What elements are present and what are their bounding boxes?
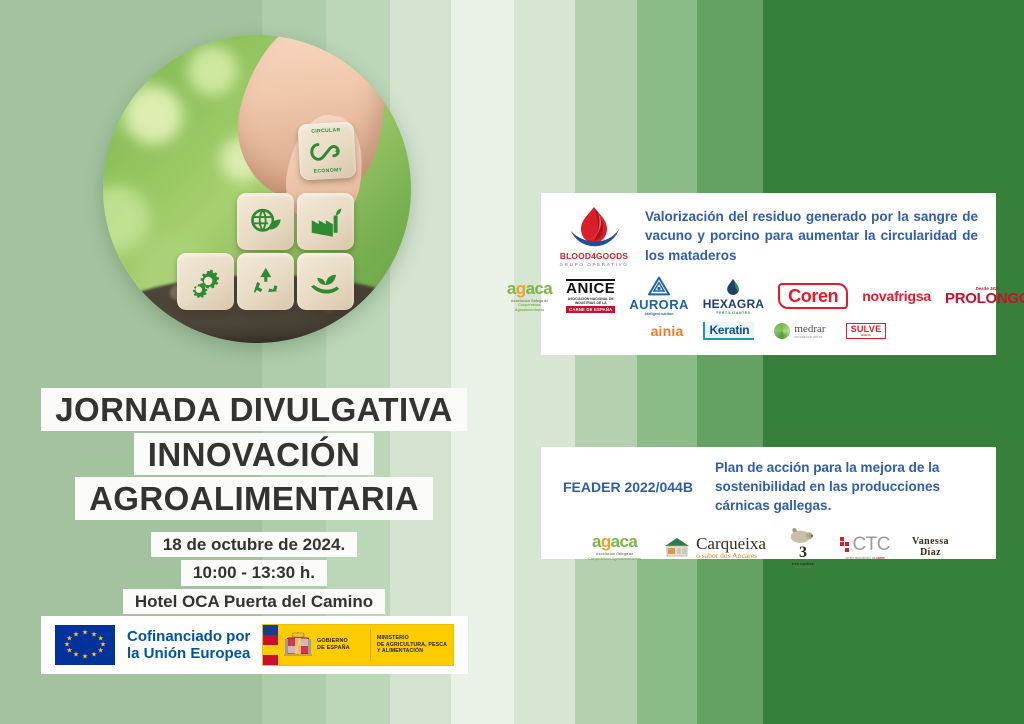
logo-anice: ANICE ASOCIACIÓN NACIONAL DE INDUSTRIAS … [566,279,615,313]
poster-canvas: CIRCULAR ECONOMY [0,0,1024,724]
logo-aurora-tagline: intelligent nutrition [645,312,674,316]
spain-government-emblem: GOBIERNO DE ESPAÑA MINISTERIO DE AGRICUL… [262,624,454,666]
feader-code: FEADER 2022/044B [563,479,715,495]
panel1-partner-row-2: ainia Keratin medrar innovation office S… [541,322,996,340]
ministerio-text: MINISTERIO DE AGRICULTURA, PESCA Y ALIME… [377,635,447,655]
spain-flag-bands [263,625,278,665]
blood4goods-subtitle: GRUPO OPERATIVO [557,262,631,267]
page-title-line-1: JORNADA DIVULGATIVA [41,388,467,431]
logo-tres-numeral: 3 [799,545,807,561]
logo-novafrigsa-wordmark: novafrigsa [862,288,931,304]
logo-vanessa-line-1: Vanessa [912,536,949,548]
logo-keratin: Keratin [703,322,754,340]
eu-star-icon: ★ [82,654,88,661]
ctc-dots-icon [840,537,850,552]
eu-star-icon: ★ [91,652,97,659]
logo-anice-tagline: ASOCIACIÓN NACIONAL DE INDUSTRIAS DE LA [566,297,615,305]
die-earth-leaf [237,193,294,250]
eu-star-icon: ★ [73,631,79,638]
logo-medrar-text: medrar innovation office [794,324,825,339]
event-date: 18 de octubre de 2024. [151,532,357,557]
logo-agaca-tagline: Asociación Galega de Cooperativas Agroal… [507,299,552,312]
logo-hexagra: HEXAGRA FERTILIZANTES [703,278,764,315]
logo-carqueixa-tagline: o sabor dos Ancares [696,552,766,560]
logo-ainia-wordmark: ainia [651,323,684,339]
die-gears [177,253,234,310]
ministerio-block: MINISTERIO DE AGRICULTURA, PESCA Y ALIME… [371,625,453,665]
logo-vanessa-diaz: Vanessa Díaz [912,536,949,559]
eu-flag-icon: ★★★★★★★★★★★★ [55,625,115,665]
background-stripe-5 [514,0,575,724]
logo-agaca-feader-wordmark: agaca [592,533,637,550]
blood4goods-name: BLOOD4GOODS [557,251,631,261]
logo-prolongo-wordmark: PROLONGO [945,291,1024,306]
logo-hexagra-wordmark: HEXAGRA [703,298,764,310]
panel1-header: BLOOD4GOODS GRUPO OPERATIVO Valorización… [541,193,996,267]
factory-plant-icon [307,203,345,241]
panel2-header: FEADER 2022/044B Plan de acción para la … [541,447,996,515]
logo-sulve-wordmark: SULVE [851,325,882,334]
die-factory [297,193,354,250]
logo-coren: Coren [778,283,848,309]
hero-photo: CIRCULAR ECONOMY [103,35,411,343]
eu-star-icon: ★ [82,630,88,637]
logo-ctc-tagline: centro tecnolóxico da carne [845,556,885,560]
logo-tres-tagline: xamón e máis [795,566,811,569]
logo-anice-wordmark: ANICE [566,281,615,296]
logo-sulve: SULVE Biotech [846,323,887,339]
eu-funding-line-1: Cofinanciado por [127,628,250,645]
die-hand-sprout [297,253,354,310]
event-venue: Hotel OCA Puerta del Camino [123,589,385,614]
eu-funding-line-2: la Unión Europea [127,645,250,662]
aurora-triangle-icon [646,276,672,296]
logo-aurora-wordmark: AURORA [629,298,688,311]
logo-novafrigsa: novafrigsa [862,288,931,304]
die-circular-economy: CIRCULAR ECONOMY [298,122,357,181]
eu-star-icon: ★ [66,648,72,655]
logo-ctc-wordmark: CTC [852,535,890,554]
title-block: JORNADA DIVULGATIVA INNOVACIÓN AGROALIME… [28,388,480,645]
logo-medrar-tagline: innovation office [794,335,825,339]
eu-star-icon: ★ [64,642,70,649]
logo-vanessa-line-2: Díaz [920,547,941,559]
gobierno-line-2: DE ESPAÑA [317,645,350,652]
gobierno-block: GOBIERNO DE ESPAÑA [278,625,371,665]
logo-agaca-feader-tagline: Asociación Galega de Cooperativas Agroal… [588,552,641,561]
project-panel-blood4goods: BLOOD4GOODS GRUPO OPERATIVO Valorización… [541,193,996,355]
panel1-heading: Valorización del residuo generado por la… [645,207,978,264]
panel1-partner-row-1: agaca Asociación Galega de Cooperativas … [541,276,996,316]
earth-leaf-icon [247,203,285,241]
gobierno-line-1: GOBIERNO [317,638,350,645]
hand-sprout-icon [307,263,345,301]
pig-icon [788,525,818,545]
eu-funding-text: Cofinanciado por la Unión Europea [127,628,250,663]
logo-hexagra-tagline: FERTILIZANTES [716,311,750,315]
gobierno-text: GOBIERNO DE ESPAÑA [317,638,350,652]
logo-aurora: AURORA intelligent nutrition [629,276,688,316]
ministerio-line-1: MINISTERIO [377,635,447,642]
die-recycle [237,253,294,310]
logo-ctc: CTC centro tecnolóxico da carne [840,535,890,560]
logo-agaca-feader: agaca Asociación Galega de Cooperativas … [588,533,641,561]
background-stripe-6 [575,0,637,724]
panel2-heading: Plan de acción para la mejora de la sost… [715,458,976,515]
blood-drop-icon [567,205,621,249]
project-panel-feader: FEADER 2022/044B Plan de acción para la … [541,447,996,559]
logo-anice-band: CARNE DE ESPAÑA [566,306,615,313]
logo-carqueixa-text: Carqueixa o sabor dos Ancares [696,535,766,560]
logo-carqueixa-wordmark: Carqueixa [696,535,766,552]
logo-sulve-tagline: Biotech [861,334,871,337]
eu-star-icon: ★ [66,636,72,643]
background-stripe-7 [637,0,697,724]
eu-star-icon: ★ [97,648,103,655]
logo-tres-rucillos: 3 tres rucillos xamón e máis [788,525,818,569]
circular-economy-photo: CIRCULAR ECONOMY [103,35,411,343]
logo-ainia: ainia [651,323,684,339]
logo-coren-wordmark: Coren [788,287,838,305]
carqueixa-house-icon [663,536,691,558]
event-time: 10:00 - 13:30 h. [181,560,327,585]
background-stripe-8 [697,0,763,724]
logo-keratin-wordmark: Keratin [709,323,749,337]
panel2-partner-row: agaca Asociación Galega de Cooperativas … [541,525,996,569]
hexagra-drop-icon [725,278,741,296]
logo-prolongo: Desde 1820 PROLONGO [945,286,1024,306]
eu-funding-bar: ★★★★★★★★★★★★ Cofinanciado por la Unión E… [41,616,468,674]
eu-star-icon: ★ [91,631,97,638]
die-bottom-caption: ECONOMY [300,167,356,176]
page-title-line-2: INNOVACIÓN [134,433,374,476]
logo-medrar-wordmark: medrar [794,324,825,335]
blood4goods-logo: BLOOD4GOODS GRUPO OPERATIVO [557,205,631,267]
background-stripe-9 [763,0,1024,724]
logo-medrar: medrar innovation office [774,323,825,339]
page-title-line-3: AGROALIMENTARIA [75,477,433,520]
recycle-icon [247,263,285,301]
logo-ctc-row: CTC [840,535,890,554]
ministerio-line-3: Y ALIMENTACIÓN [377,648,447,655]
medrar-pinwheel-icon [774,323,790,339]
eu-star-icon: ★ [73,652,79,659]
coat-of-arms-icon [283,629,313,661]
infinity-recycle-icon [308,132,347,171]
logo-agaca: agaca Asociación Galega de Cooperativas … [507,280,552,312]
logo-agaca-wordmark: agaca [507,280,552,297]
logo-carqueixa: Carqueixa o sabor dos Ancares [663,535,766,560]
gears-icon [187,263,225,301]
